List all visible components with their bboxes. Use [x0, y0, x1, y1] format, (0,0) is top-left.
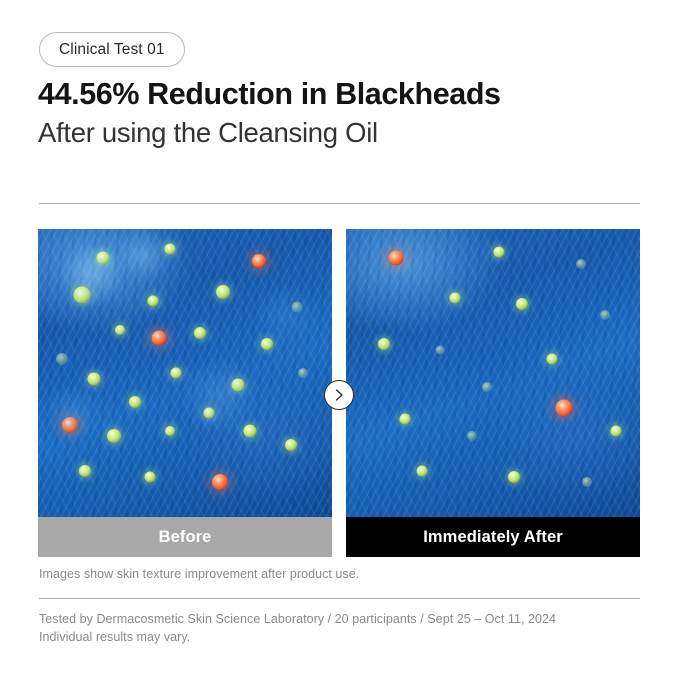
skin-spot [62, 417, 78, 433]
skin-spot [285, 439, 297, 451]
skin-spot [611, 425, 622, 436]
skin-spot [79, 465, 91, 477]
skin-spot [493, 247, 504, 258]
skin-spot [449, 293, 460, 304]
skin-spot [115, 325, 125, 335]
skin-spot [600, 310, 610, 320]
skin-spot [436, 345, 445, 354]
headline-block: 44.56% Reduction in Blackheads After usi… [38, 76, 643, 149]
skin-spot [151, 331, 166, 346]
skin-spot [291, 301, 302, 312]
after-panel[interactable]: Immediately After [346, 229, 640, 557]
footer-line-study: Tested by Dermacosmetic Skin Science Lab… [39, 610, 649, 628]
skin-spot [467, 431, 477, 441]
skin-spot [482, 382, 492, 392]
skin-spot [144, 471, 155, 482]
after-caption-bar: Immediately After [346, 517, 640, 557]
skin-spot [508, 471, 520, 483]
before-skin-image [38, 229, 332, 517]
before-caption-label: Before [159, 528, 212, 547]
image-note: Images show skin texture improvement aft… [39, 566, 359, 583]
skin-spot [96, 251, 109, 264]
after-caption-label: Immediately After [423, 528, 563, 547]
skin-spot [252, 254, 266, 268]
clinical-test-badge: Clinical Test 01 [39, 32, 185, 67]
skin-spot [298, 368, 308, 378]
page-title: 44.56% Reduction in Blackheads [38, 76, 643, 113]
skin-spot [171, 368, 182, 379]
skin-spot [216, 285, 230, 299]
before-caption-bar: Before [38, 517, 332, 557]
chevron-right-icon[interactable] [324, 380, 354, 410]
before-panel[interactable]: Before [38, 229, 332, 557]
skin-spot [165, 244, 176, 255]
skin-spot [107, 429, 121, 443]
skin-spot [212, 474, 228, 490]
skin-spot [243, 424, 256, 437]
skin-spot [576, 259, 586, 269]
skin-spot [378, 338, 390, 350]
skin-spot [147, 296, 158, 307]
skin-spot [399, 414, 410, 425]
before-spot-layer [38, 229, 332, 517]
footer-disclaimer: Tested by Dermacosmetic Skin Science Lab… [39, 610, 649, 646]
divider-top [39, 203, 640, 204]
clinical-test-card: Clinical Test 01 44.56% Reduction in Bla… [0, 0, 679, 679]
skin-spot [129, 396, 141, 408]
skin-spot [231, 378, 244, 391]
skin-spot [194, 327, 206, 339]
badge-label: Clinical Test 01 [59, 42, 165, 58]
after-spot-layer [346, 229, 640, 517]
skin-spot [516, 298, 528, 310]
skin-spot [203, 408, 214, 419]
skin-spot [56, 353, 68, 365]
page-subtitle: After using the Cleansing Oil [38, 116, 643, 149]
skin-spot [261, 338, 273, 350]
skin-spot [388, 250, 403, 265]
skin-spot [546, 353, 557, 364]
skin-spot [582, 477, 592, 487]
skin-spot [87, 372, 100, 385]
skin-spot [417, 465, 428, 476]
after-skin-image [346, 229, 640, 517]
skin-spot [165, 426, 175, 436]
skin-spot [555, 399, 572, 416]
skin-spot [74, 287, 91, 304]
footer-line-results: Individual results may vary. [39, 628, 649, 646]
divider-footer [39, 598, 640, 599]
